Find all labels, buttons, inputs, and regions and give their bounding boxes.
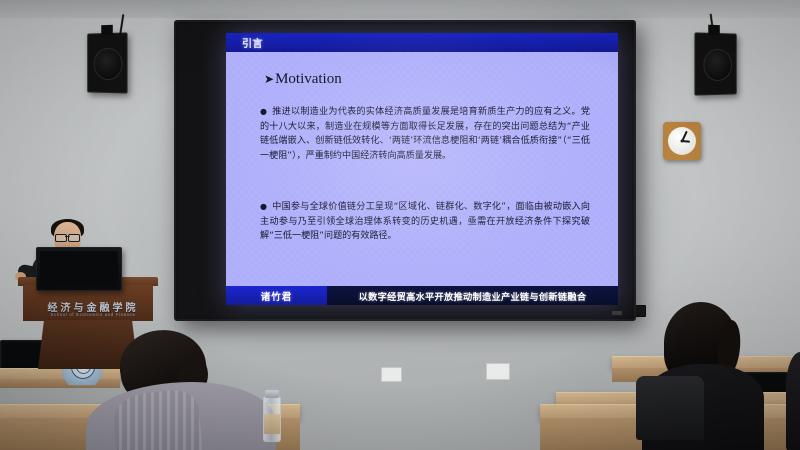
presentation-display[interactable]: 引言 ➤ Motivation ●推进以制造业为代表的实体经济高质量发展是培育新… [174,20,636,321]
slide-header-bar: 引言 [226,33,618,52]
slide-speaker-name: 诸竹君 [226,286,327,305]
presentation-slide: 引言 ➤ Motivation ●推进以制造业为代表的实体经济高质量发展是培育新… [226,33,618,305]
glasses-icon [55,234,80,240]
slide-section-heading: ➤ Motivation [264,71,342,88]
audience-member-left [92,330,292,450]
slide-bullet-2: ●中国参与全球价值链分工呈现“区域化、链群化、数字化”，面临由被动嵌入向主动参与… [260,200,590,244]
lecture-hall-scene: 引言 ➤ Motivation ●推进以制造业为代表的实体经济高质量发展是培育新… [0,0,800,450]
bullet-dot-icon: ● [260,105,272,120]
presenter-laptop[interactable] [36,247,122,291]
slide-bullet-1: ●推进以制造业为代表的实体经济高质量发展是培育新质生产力的应有之义。党的十八大以… [260,105,590,163]
audience-member-far-right [786,352,800,450]
wall-speaker-left [87,32,127,93]
clock-face [668,127,696,155]
wall-speaker-right [694,32,736,95]
wall-clock [663,122,701,160]
wall-socket-plate-b [486,363,510,380]
speaker-bracket-right [708,25,720,35]
podium-name-en: School of Economics and Finance [23,312,163,317]
wall-socket-plate-a [381,367,402,382]
speaker-cone-right [703,49,732,81]
bottle-label [264,414,280,434]
slide-body: ➤ Motivation ●推进以制造业为代表的实体经济高质量发展是培育新质生产… [226,52,618,286]
bullet-2-text: 中国参与全球价值链分工呈现“区域化、链群化、数字化”，面临由被动嵌入向主动参与乃… [260,202,590,241]
arrow-bullet-icon: ➤ [264,72,274,87]
display-power-led [612,311,622,315]
water-bottle [263,396,281,442]
audience-right-chair [636,376,704,440]
clock-center-pin [681,140,684,143]
speaker-cone-left [94,48,123,80]
glasses-lens-right [68,234,80,242]
bottle-cap [265,390,279,398]
bullet-dot-icon: ● [260,200,272,215]
laptop-screen [40,251,118,287]
speaker-bracket-left [101,25,113,35]
slide-footer-bar: 诸竹君 以数字经贸高水平开放推动制造业产业链与创新链融合 [226,286,618,305]
section-heading-label: Motivation [275,71,342,88]
slide-talk-title: 以数字经贸高水平开放推动制造业产业链与创新链融合 [327,286,618,305]
bullet-1-text: 推进以制造业为代表的实体经济高质量发展是培育新质生产力的应有之义。党的十八大以来… [260,107,590,161]
slide-header-title: 引言 [242,35,263,50]
